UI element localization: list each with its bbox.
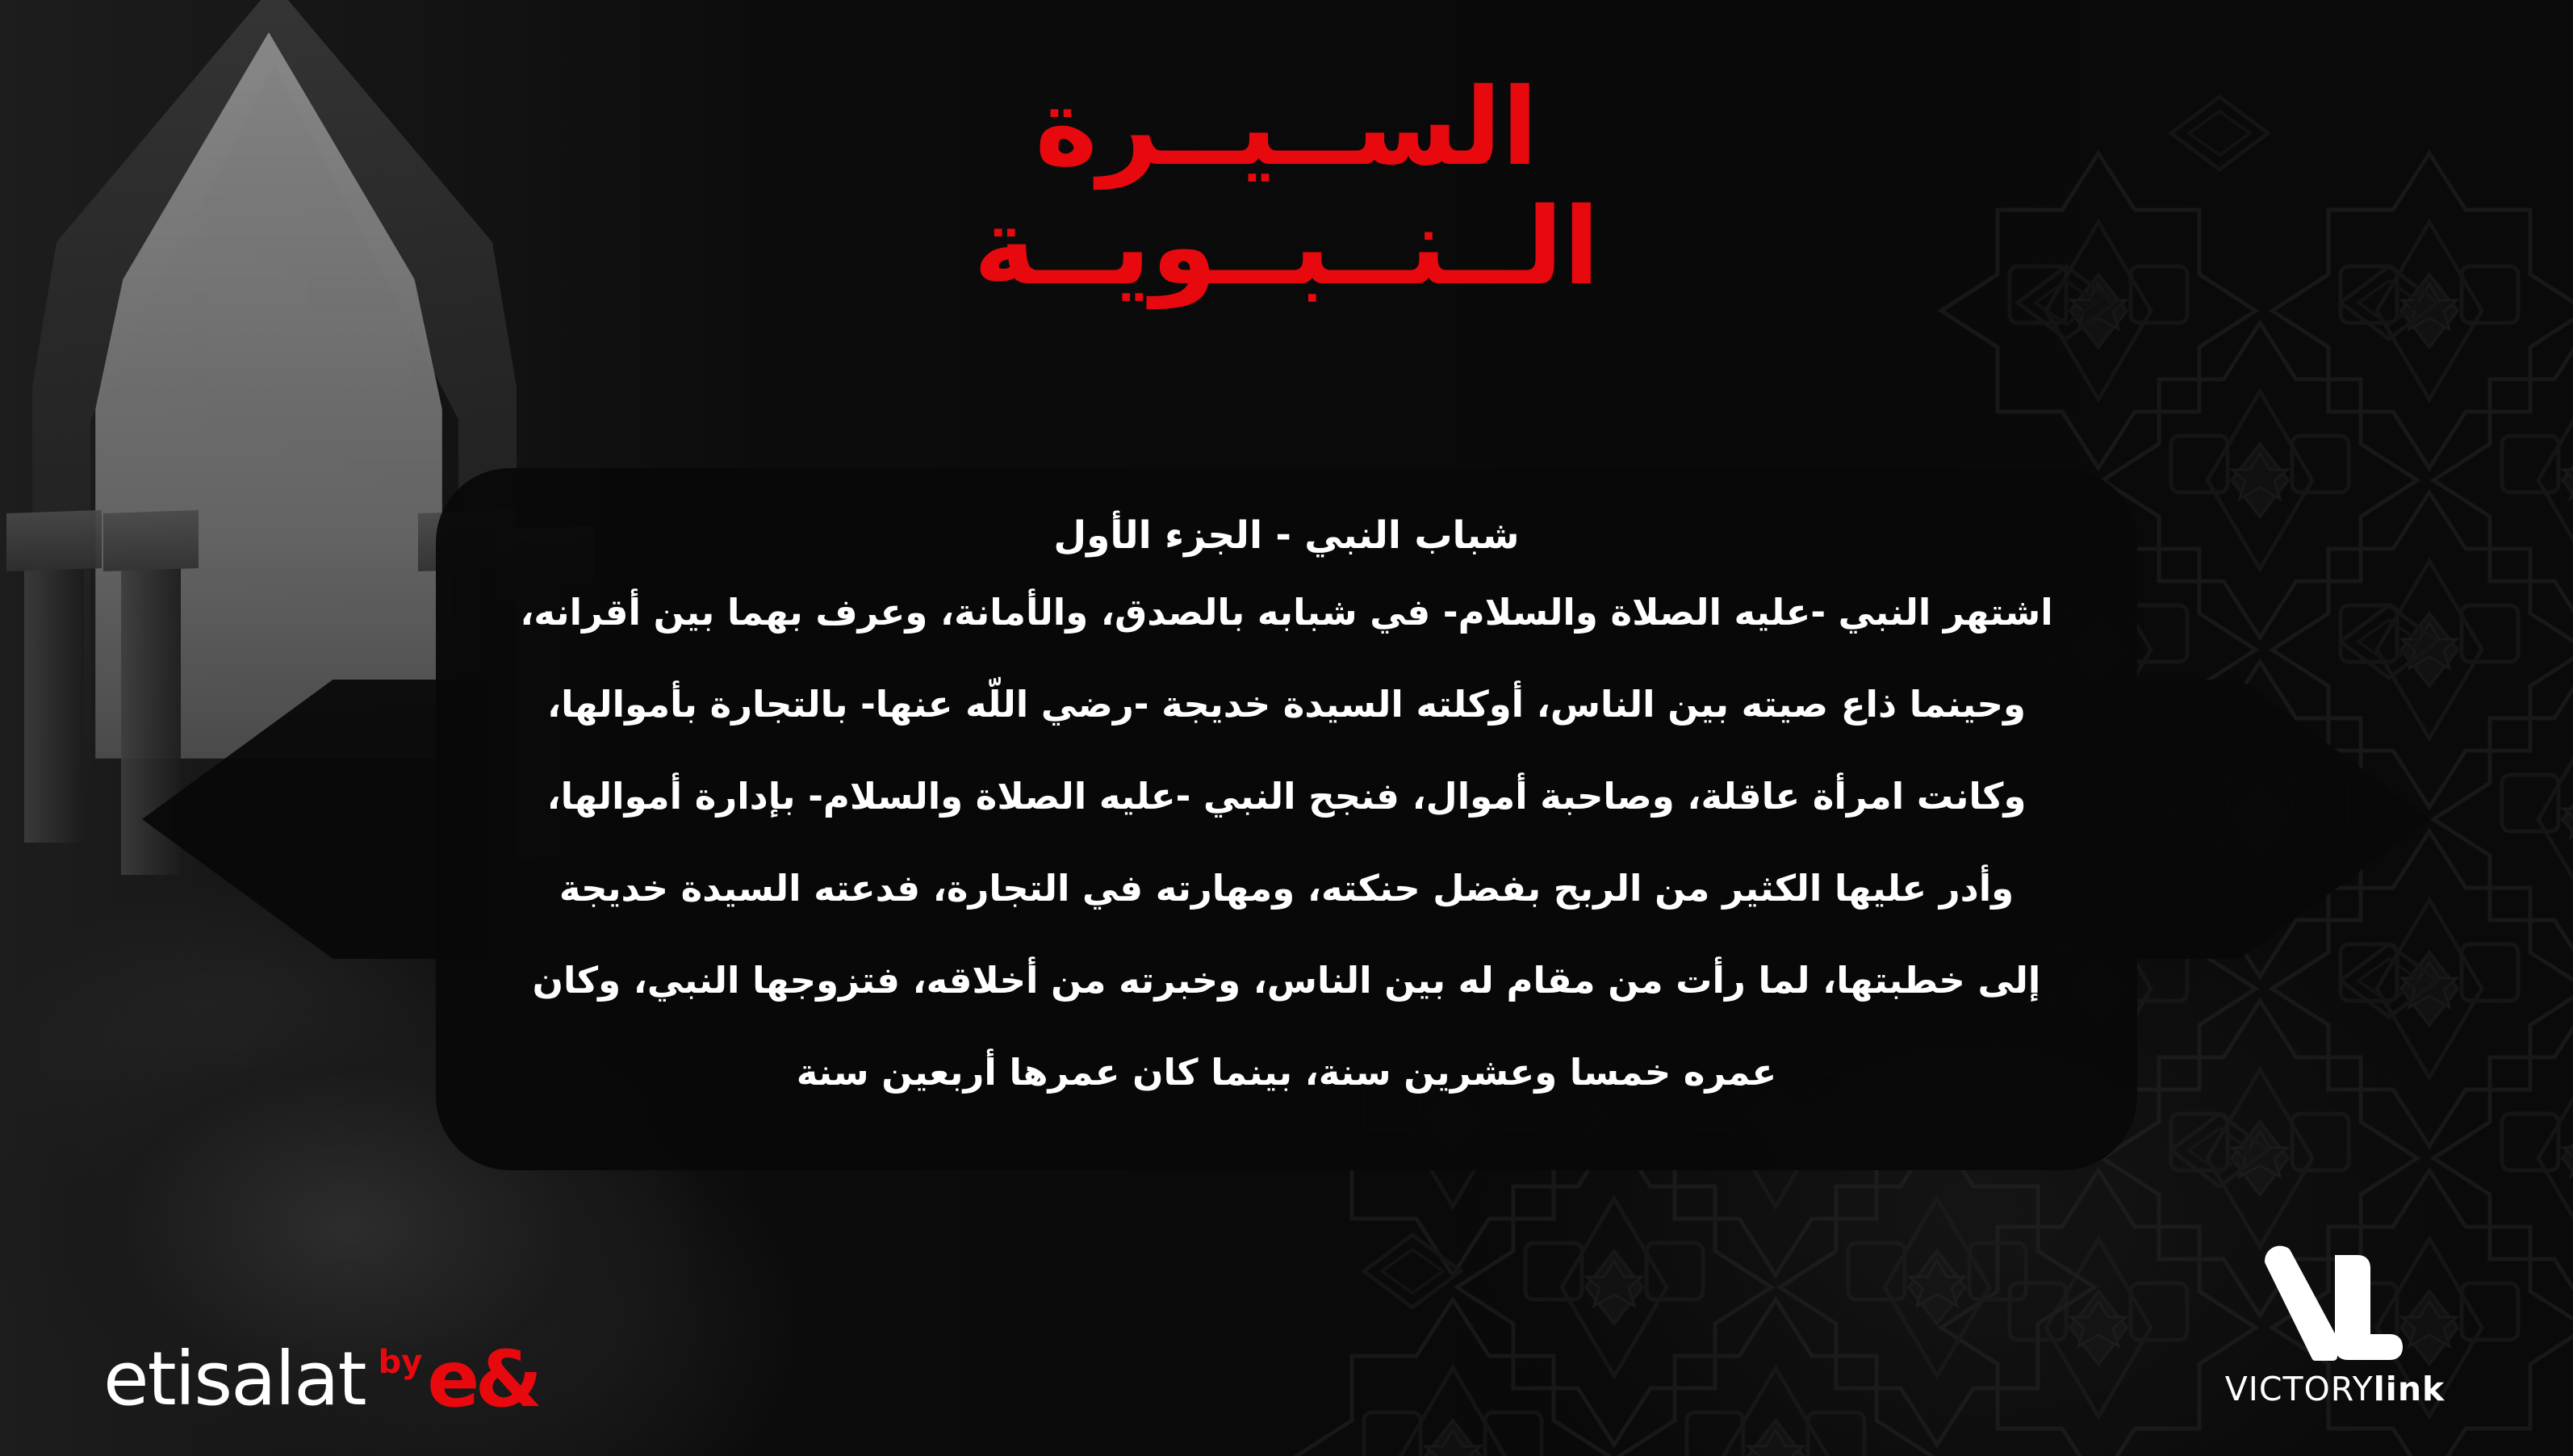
etisalat-wordmark: etisalat (103, 1345, 366, 1414)
column-icon (24, 568, 84, 843)
body-line: وأدر عليها الكثير من الربح بفضل حنكته، و… (376, 870, 2197, 906)
body-line: وحينما ذاع صيته بين الناس، أوكلته السيدة… (376, 686, 2197, 722)
victorylink-wordmark: VICTORYlink (2202, 1373, 2468, 1406)
victorylink-word-secondary: link (2374, 1370, 2445, 1408)
body-line: وكانت امرأة عاقلة، وصاحبة أموال، فنجح ال… (376, 778, 2197, 814)
slide-canvas: الســيــرة الــنــبــويــة شباب النبي - … (0, 0, 2573, 1456)
body-line: اشتهر النبي -عليه الصلاة والسلام- في شبا… (376, 594, 2197, 630)
body-line: إلى خطبتها، لما رأت من مقام له بين الناس… (376, 962, 2197, 998)
page-title-line-2: الــنــبــويــة (0, 194, 2573, 300)
etisalat-logo: etisalat by e& (103, 1345, 538, 1414)
page-title-line-1: الســيــرة (0, 74, 2573, 181)
panel-subtitle: شباب النبي - الجزء الأول (376, 513, 2197, 559)
vl-monogram-icon (2254, 1244, 2416, 1365)
victorylink-logo: VICTORYlink (2202, 1244, 2468, 1406)
etisalat-by-label: by (379, 1346, 423, 1379)
eand-logo-icon: e& (427, 1345, 538, 1414)
victorylink-word-primary: VICTORY (2225, 1370, 2374, 1408)
page-title: الســيــرة الــنــبــويــة (0, 74, 2573, 300)
body-line: عمره خمسا وعشرين سنة، بينما كان عمرها أر… (376, 1054, 2197, 1090)
content-panel: شباب النبي - الجزء الأول اشتهر النبي -عل… (142, 468, 2431, 1170)
